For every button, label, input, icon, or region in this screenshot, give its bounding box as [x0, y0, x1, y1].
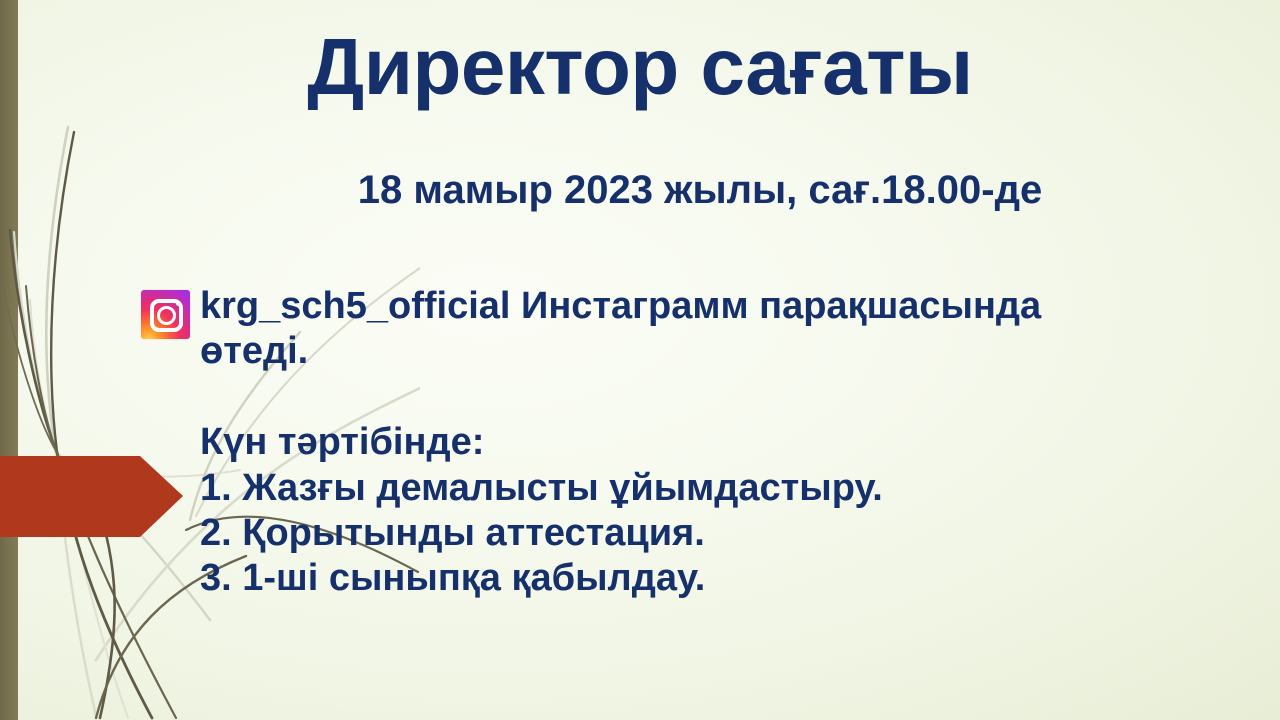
instagram-dot-shape	[176, 301, 181, 306]
body-spacer	[200, 374, 1220, 420]
presentation-slide: Директор сағаты 18 мамыр 2023 жылы, сағ.…	[0, 0, 1280, 720]
event-datetime: 18 мамыр 2023 жылы, сағ.18.00-де	[180, 167, 1220, 213]
agenda-item-1: 1. Жазғы демалысты ұйымдастыру.	[200, 466, 1220, 511]
agenda-item-3: 3. 1-ші сыныпқа қабылдау.	[200, 556, 1220, 601]
agenda-heading: Күн тәртібінде:	[200, 420, 1220, 465]
instagram-handle-text: krg_sch5_official Инстаграмм парақшасынд…	[200, 284, 1220, 329]
instagram-handle-text-cont: өтеді.	[200, 329, 1220, 374]
agenda-item-2: 2. Қорытынды аттестация.	[200, 511, 1220, 556]
instagram-icon	[141, 290, 190, 339]
instagram-handle-line: krg_sch5_official Инстаграмм парақшасынд…	[200, 284, 1220, 374]
red-arrow-banner	[0, 454, 184, 539]
slide-body: krg_sch5_official Инстаграмм парақшасынд…	[200, 284, 1220, 601]
page-title: Директор сағаты	[0, 24, 1280, 110]
instagram-lens-shape	[157, 306, 176, 325]
